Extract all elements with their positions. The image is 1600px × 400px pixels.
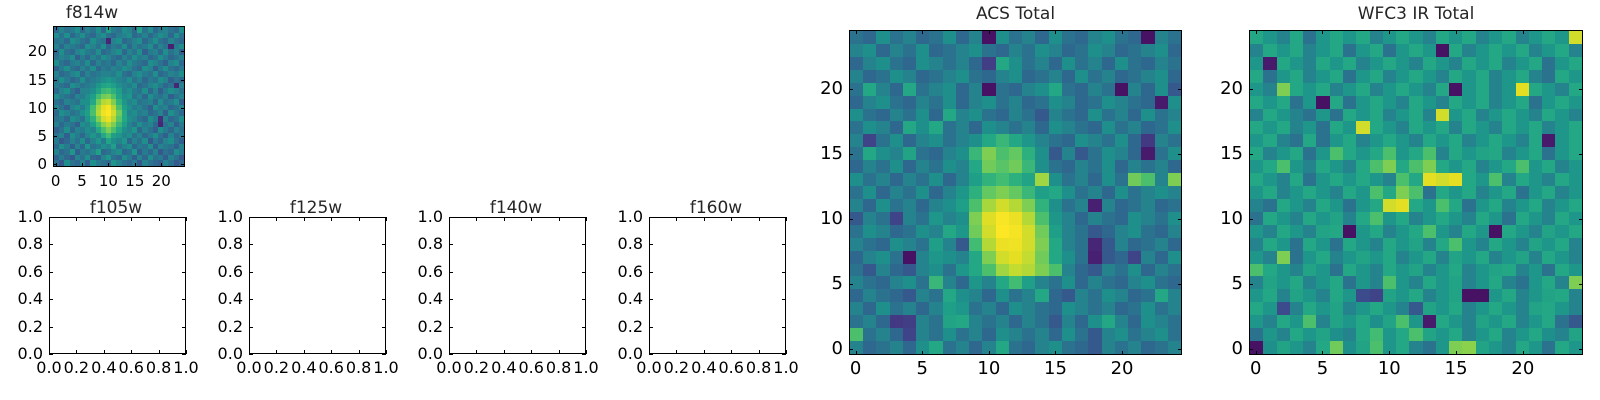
ytick-mark-right bbox=[182, 354, 186, 355]
ytick-label: 0.2 bbox=[201, 319, 243, 335]
ytick-mark-right bbox=[1178, 219, 1182, 220]
panel-f125w: f125w 0.00.20.40.60.81.00.00.20.40.60.81… bbox=[200, 190, 400, 400]
ytick-mark-right bbox=[382, 299, 386, 300]
xtick-label: 0.8 bbox=[746, 360, 771, 376]
xtick-label: 1.0 bbox=[773, 360, 798, 376]
xtick-mark bbox=[504, 350, 505, 354]
xtick-mark bbox=[104, 350, 105, 354]
ytick-label: 0.6 bbox=[601, 264, 643, 280]
xtick-label: 0.6 bbox=[518, 360, 543, 376]
panel-title-f160w: f160w bbox=[616, 200, 816, 217]
ytick-mark-right bbox=[1579, 284, 1583, 285]
ytick-mark-right bbox=[582, 244, 586, 245]
ytick-label: 1.0 bbox=[601, 209, 643, 225]
ytick-label: 15 bbox=[5, 72, 47, 88]
ytick-label: 1.0 bbox=[201, 209, 243, 225]
ytick-label: 10 bbox=[5, 100, 47, 116]
xtick-mark-top bbox=[786, 217, 787, 221]
ytick-mark bbox=[449, 272, 453, 273]
xtick-mark-top bbox=[108, 26, 109, 30]
xtick-mark bbox=[476, 350, 477, 354]
xtick-mark bbox=[856, 351, 857, 355]
xtick-mark-top bbox=[386, 217, 387, 221]
ytick-label: 1.0 bbox=[1, 209, 43, 225]
ytick-mark-right bbox=[1178, 89, 1182, 90]
panel-f105w: f105w 0.00.20.40.60.81.00.00.20.40.60.81… bbox=[0, 190, 200, 400]
panel-wfc3-ir-total: WFC3 IR Total 0510152005101520 bbox=[1200, 0, 1600, 400]
xtick-mark bbox=[559, 350, 560, 354]
ytick-mark bbox=[649, 217, 653, 218]
panel-title-f105w: f105w bbox=[16, 200, 216, 217]
ytick-mark-right bbox=[182, 217, 186, 218]
ytick-mark bbox=[1249, 349, 1253, 350]
ytick-mark bbox=[849, 284, 853, 285]
ytick-label: 0.8 bbox=[601, 236, 643, 252]
panel-title-f125w: f125w bbox=[216, 200, 416, 217]
xtick-mark-top bbox=[276, 217, 277, 221]
xtick-mark-top bbox=[104, 217, 105, 221]
ytick-mark bbox=[849, 219, 853, 220]
panel-title-f814w: f814w bbox=[0, 5, 192, 22]
xtick-mark-top bbox=[1456, 30, 1457, 34]
xtick-mark bbox=[186, 350, 187, 354]
ytick-mark-right bbox=[182, 272, 186, 273]
xtick-mark-top bbox=[1122, 30, 1123, 34]
ytick-mark-right bbox=[182, 244, 186, 245]
ytick-label: 15 bbox=[1201, 146, 1243, 162]
heatmap-grid-wfc3-ir-total bbox=[1250, 31, 1582, 354]
xtick-label: 5 bbox=[917, 361, 928, 377]
xtick-label: 15 bbox=[1044, 361, 1067, 377]
ytick-mark-right bbox=[1579, 349, 1583, 350]
xtick-mark bbox=[82, 163, 83, 167]
ytick-label: 10 bbox=[801, 211, 843, 227]
xtick-label: 1.0 bbox=[373, 360, 398, 376]
xtick-mark bbox=[331, 350, 332, 354]
ytick-mark-right bbox=[582, 354, 586, 355]
xtick-mark bbox=[1456, 351, 1457, 355]
xtick-mark-top bbox=[161, 26, 162, 30]
xtick-label: 0.6 bbox=[718, 360, 743, 376]
xtick-mark-top bbox=[586, 217, 587, 221]
ytick-label: 0 bbox=[1201, 341, 1243, 357]
ytick-mark-right bbox=[382, 272, 386, 273]
xtick-label: 0.2 bbox=[264, 360, 289, 376]
xtick-mark bbox=[759, 350, 760, 354]
ytick-mark-right bbox=[782, 244, 786, 245]
ytick-mark-right bbox=[181, 164, 185, 165]
ytick-mark bbox=[649, 244, 653, 245]
xtick-label: 0 bbox=[1250, 361, 1261, 377]
ytick-label: 0.6 bbox=[1, 264, 43, 280]
ytick-mark-right bbox=[182, 327, 186, 328]
xtick-mark-top bbox=[989, 30, 990, 34]
xtick-mark-top bbox=[476, 217, 477, 221]
xtick-mark-top bbox=[504, 217, 505, 221]
ytick-label: 0.6 bbox=[401, 264, 443, 280]
xtick-label: 15 bbox=[1445, 361, 1468, 377]
xtick-mark-top bbox=[1055, 30, 1056, 34]
xtick-mark-top bbox=[1322, 30, 1323, 34]
ytick-mark bbox=[49, 354, 53, 355]
heatmap-grid-f814w bbox=[54, 27, 184, 166]
xtick-mark bbox=[989, 351, 990, 355]
ytick-mark-right bbox=[382, 327, 386, 328]
xtick-mark-top bbox=[676, 217, 677, 221]
xtick-mark bbox=[76, 350, 77, 354]
ytick-mark bbox=[249, 272, 253, 273]
xtick-mark bbox=[108, 163, 109, 167]
ytick-mark-right bbox=[582, 217, 586, 218]
ytick-mark-right bbox=[1178, 349, 1182, 350]
xtick-label: 0.4 bbox=[691, 360, 716, 376]
ytick-mark-right bbox=[1579, 89, 1583, 90]
xtick-mark-top bbox=[82, 26, 83, 30]
plot-area-f105w[interactable] bbox=[49, 217, 186, 354]
ytick-label: 20 bbox=[5, 43, 47, 59]
plot-area-f814w[interactable] bbox=[53, 26, 185, 167]
xtick-mark bbox=[135, 163, 136, 167]
ytick-mark-right bbox=[1579, 219, 1583, 220]
plot-area-acs-total[interactable] bbox=[849, 30, 1182, 355]
ytick-mark-right bbox=[782, 217, 786, 218]
xtick-label: 0.8 bbox=[546, 360, 571, 376]
xtick-mark-top bbox=[186, 217, 187, 221]
ytick-label: 0.2 bbox=[601, 319, 643, 335]
ytick-mark-right bbox=[382, 354, 386, 355]
ytick-mark bbox=[449, 217, 453, 218]
ytick-mark-right bbox=[1178, 154, 1182, 155]
ytick-mark bbox=[49, 299, 53, 300]
xtick-label: 15 bbox=[125, 173, 144, 189]
ytick-label: 0.0 bbox=[601, 346, 643, 362]
ytick-mark bbox=[249, 217, 253, 218]
ytick-mark bbox=[449, 244, 453, 245]
ytick-mark bbox=[49, 217, 53, 218]
ytick-mark-right bbox=[382, 244, 386, 245]
xtick-mark-top bbox=[304, 217, 305, 221]
xtick-mark-top bbox=[1256, 30, 1257, 34]
xtick-label: 0.6 bbox=[318, 360, 343, 376]
ytick-mark bbox=[49, 244, 53, 245]
xtick-mark bbox=[386, 350, 387, 354]
panel-title-f140w: f140w bbox=[416, 200, 616, 217]
xtick-mark bbox=[359, 350, 360, 354]
ytick-label: 0.0 bbox=[201, 346, 243, 362]
panel-title-acs-total: ACS Total bbox=[849, 6, 1182, 23]
xtick-mark bbox=[304, 350, 305, 354]
xtick-mark-top bbox=[731, 217, 732, 221]
ytick-label: 0.8 bbox=[401, 236, 443, 252]
xtick-mark-top bbox=[331, 217, 332, 221]
ytick-label: 0.0 bbox=[401, 346, 443, 362]
ytick-mark-right bbox=[582, 272, 586, 273]
xtick-label: 0.2 bbox=[464, 360, 489, 376]
ytick-mark-right bbox=[782, 272, 786, 273]
xtick-mark bbox=[531, 350, 532, 354]
xtick-mark bbox=[1256, 351, 1257, 355]
ytick-label: 0.2 bbox=[401, 319, 443, 335]
ytick-mark-right bbox=[1579, 154, 1583, 155]
xtick-mark bbox=[1523, 351, 1524, 355]
ytick-mark-right bbox=[1178, 284, 1182, 285]
ytick-mark bbox=[49, 327, 53, 328]
ytick-mark bbox=[449, 299, 453, 300]
xtick-mark bbox=[1389, 351, 1390, 355]
xtick-label: 20 bbox=[152, 173, 171, 189]
ytick-mark bbox=[1249, 284, 1253, 285]
panel-f160w: f160w 0.00.20.40.60.81.00.00.20.40.60.81… bbox=[600, 190, 800, 400]
ytick-mark bbox=[849, 154, 853, 155]
xtick-mark bbox=[922, 351, 923, 355]
xtick-label: 10 bbox=[99, 173, 118, 189]
ytick-mark bbox=[449, 327, 453, 328]
ytick-mark-right bbox=[782, 327, 786, 328]
ytick-mark bbox=[849, 349, 853, 350]
heatmap-grid-acs-total bbox=[850, 31, 1181, 354]
xtick-label: 5 bbox=[77, 173, 87, 189]
xtick-mark-top bbox=[159, 217, 160, 221]
xtick-mark bbox=[131, 350, 132, 354]
xtick-label: 0.6 bbox=[118, 360, 143, 376]
ytick-mark bbox=[1249, 219, 1253, 220]
xtick-mark-top bbox=[922, 30, 923, 34]
ytick-label: 0.0 bbox=[1, 346, 43, 362]
ytick-mark bbox=[53, 80, 57, 81]
ytick-label: 0.4 bbox=[201, 291, 243, 307]
xtick-label: 10 bbox=[1378, 361, 1401, 377]
xtick-mark-top bbox=[759, 217, 760, 221]
ytick-label: 0.4 bbox=[601, 291, 643, 307]
ytick-mark-right bbox=[382, 217, 386, 218]
xtick-mark bbox=[1122, 351, 1123, 355]
xtick-label: 20 bbox=[1511, 361, 1534, 377]
xtick-label: 0.8 bbox=[346, 360, 371, 376]
xtick-mark bbox=[276, 350, 277, 354]
ytick-mark bbox=[53, 164, 57, 165]
xtick-mark-top bbox=[131, 217, 132, 221]
ytick-mark bbox=[1249, 154, 1253, 155]
xtick-mark-top bbox=[1523, 30, 1524, 34]
ytick-label: 5 bbox=[5, 128, 47, 144]
xtick-label: 10 bbox=[977, 361, 1000, 377]
ytick-mark bbox=[649, 354, 653, 355]
xtick-mark-top bbox=[559, 217, 560, 221]
ytick-label: 20 bbox=[1201, 81, 1243, 97]
ytick-label: 1.0 bbox=[401, 209, 443, 225]
xtick-mark bbox=[1322, 351, 1323, 355]
xtick-mark-top bbox=[76, 217, 77, 221]
xtick-mark-top bbox=[135, 26, 136, 30]
xtick-mark bbox=[161, 163, 162, 167]
ytick-mark bbox=[449, 354, 453, 355]
ytick-mark-right bbox=[181, 136, 185, 137]
panel-acs-total: ACS Total 0510152005101520 bbox=[800, 0, 1200, 400]
ytick-mark bbox=[53, 108, 57, 109]
xtick-mark bbox=[786, 350, 787, 354]
ytick-label: 15 bbox=[801, 146, 843, 162]
xtick-label: 1.0 bbox=[573, 360, 598, 376]
ytick-mark-right bbox=[582, 327, 586, 328]
xtick-label: 1.0 bbox=[173, 360, 198, 376]
xtick-mark-top bbox=[856, 30, 857, 34]
xtick-mark bbox=[1055, 351, 1056, 355]
ytick-mark bbox=[49, 272, 53, 273]
xtick-mark-top bbox=[359, 217, 360, 221]
xtick-mark bbox=[704, 350, 705, 354]
ytick-label: 0.2 bbox=[1, 319, 43, 335]
ytick-mark-right bbox=[782, 299, 786, 300]
ytick-label: 20 bbox=[801, 81, 843, 97]
xtick-mark-top bbox=[56, 26, 57, 30]
ytick-mark-right bbox=[181, 80, 185, 81]
ytick-mark-right bbox=[182, 299, 186, 300]
xtick-label: 20 bbox=[1111, 361, 1134, 377]
ytick-label: 5 bbox=[1201, 276, 1243, 292]
xtick-mark-top bbox=[1389, 30, 1390, 34]
ytick-label: 0.6 bbox=[201, 264, 243, 280]
ytick-mark bbox=[53, 136, 57, 137]
ytick-mark bbox=[249, 244, 253, 245]
xtick-mark-top bbox=[704, 217, 705, 221]
xtick-label: 0.2 bbox=[664, 360, 689, 376]
xtick-label: 0 bbox=[850, 361, 861, 377]
xtick-label: 0.4 bbox=[491, 360, 516, 376]
ytick-mark-right bbox=[181, 108, 185, 109]
ytick-mark bbox=[649, 327, 653, 328]
ytick-mark bbox=[1249, 89, 1253, 90]
ytick-mark-right bbox=[782, 354, 786, 355]
xtick-label: 0 bbox=[51, 173, 61, 189]
panel-title-wfc3-ir-total: WFC3 IR Total bbox=[1249, 6, 1583, 23]
ytick-mark bbox=[249, 327, 253, 328]
xtick-mark bbox=[676, 350, 677, 354]
xtick-mark-top bbox=[531, 217, 532, 221]
xtick-label: 0.4 bbox=[291, 360, 316, 376]
ytick-mark bbox=[53, 51, 57, 52]
ytick-mark-right bbox=[582, 299, 586, 300]
xtick-label: 0.2 bbox=[64, 360, 89, 376]
xtick-label: 5 bbox=[1317, 361, 1328, 377]
panel-f140w: f140w 0.00.20.40.60.81.00.00.20.40.60.81… bbox=[400, 190, 600, 400]
ytick-mark bbox=[249, 354, 253, 355]
ytick-label: 0 bbox=[801, 341, 843, 357]
plot-area-f160w[interactable] bbox=[649, 217, 786, 354]
ytick-label: 0.8 bbox=[1, 236, 43, 252]
ytick-mark bbox=[849, 89, 853, 90]
ytick-label: 0.8 bbox=[201, 236, 243, 252]
xtick-label: 0.8 bbox=[146, 360, 171, 376]
plot-area-f125w[interactable] bbox=[249, 217, 386, 354]
xtick-mark bbox=[586, 350, 587, 354]
ytick-label: 5 bbox=[801, 276, 843, 292]
xtick-mark bbox=[731, 350, 732, 354]
ytick-mark-right bbox=[181, 51, 185, 52]
ytick-mark bbox=[649, 299, 653, 300]
plot-area-wfc3-ir-total[interactable] bbox=[1249, 30, 1583, 355]
panel-f814w: f814w 0510152005101520 bbox=[0, 0, 200, 190]
xtick-mark bbox=[159, 350, 160, 354]
ytick-label: 0.4 bbox=[401, 291, 443, 307]
plot-area-f140w[interactable] bbox=[449, 217, 586, 354]
ytick-label: 10 bbox=[1201, 211, 1243, 227]
ytick-mark bbox=[649, 272, 653, 273]
ytick-mark bbox=[249, 299, 253, 300]
xtick-label: 0.4 bbox=[91, 360, 116, 376]
ytick-label: 0.4 bbox=[1, 291, 43, 307]
ytick-label: 0 bbox=[5, 156, 47, 172]
